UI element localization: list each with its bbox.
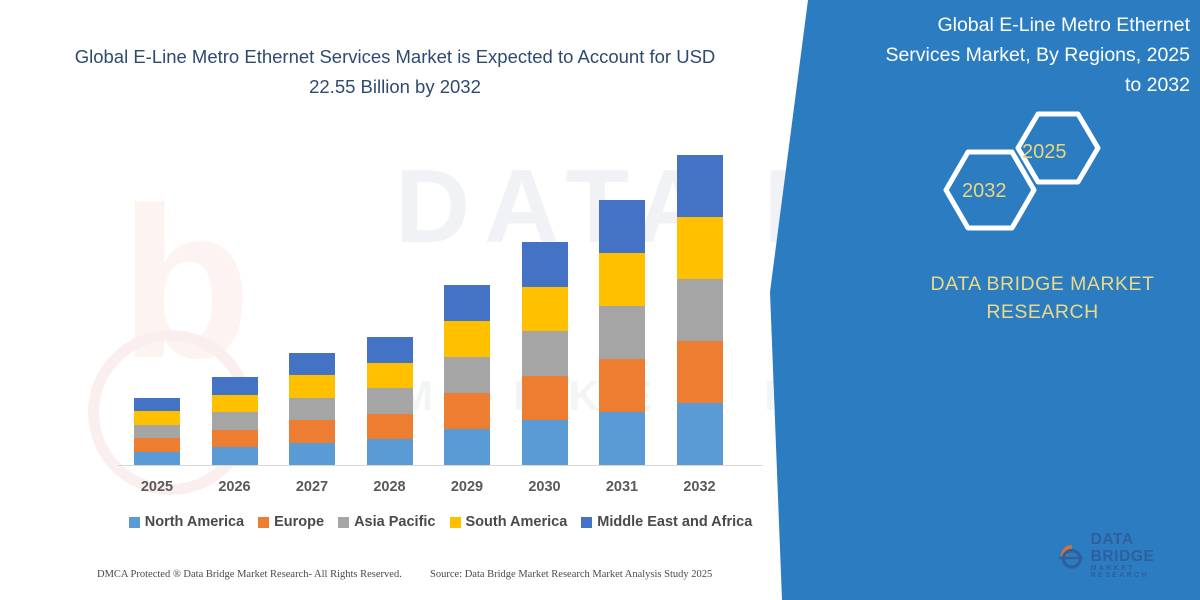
chart-legend: North AmericaEuropeAsia PacificSouth Ame… [118,514,763,530]
bar-segment [367,337,413,363]
bar-segment [599,253,645,306]
legend-item[interactable]: North America [129,514,244,530]
x-axis-label-2027: 2027 [277,479,347,495]
bar-segment [522,331,568,376]
legend-item[interactable]: South America [450,514,568,530]
legend-swatch-icon [129,517,140,528]
bar-2026 [212,377,258,465]
corner-logo-main: DATA BRIDGE [1091,532,1193,565]
bar-segment [134,398,180,411]
legend-label: North America [145,514,244,530]
bar-segment [599,359,645,412]
footer-source: Source: Data Bridge Market Research Mark… [430,569,712,580]
bar-segment [212,447,258,465]
bar-segment [522,287,568,332]
bar-segment [444,321,490,357]
legend-label: Europe [274,514,324,530]
bar-segment [522,420,568,465]
legend-label: South America [466,514,568,530]
legend-item[interactable]: Asia Pacific [338,514,435,530]
bar-2032 [677,155,723,465]
legend-swatch-icon [450,517,461,528]
bar-2031 [599,200,645,465]
bar-segment [134,411,180,424]
bar-2028 [367,337,413,465]
legend-item[interactable]: Middle East and Africa [581,514,752,530]
legend-item[interactable]: Europe [258,514,324,530]
x-axis-label-2025: 2025 [122,479,192,495]
bar-2025 [134,398,180,465]
corner-logo-icon [1058,541,1086,571]
bar-segment [212,395,258,413]
bar-segment [444,285,490,321]
bar-segment [444,429,490,465]
x-axis-label-2026: 2026 [200,479,270,495]
bar-2030 [522,242,568,465]
bar-segment [289,443,335,465]
bar-segment [444,393,490,429]
brand-name: DATA BRIDGE MARKET RESEARCH [900,270,1185,326]
hexagon-shapes [920,110,1120,240]
bar-segment [677,341,723,403]
chart: 20252026202720282029203020312032 [0,0,790,600]
corner-logo: DATA BRIDGE MARKET RESEARCH [1058,533,1193,579]
bar-segment [289,398,335,420]
legend-swatch-icon [338,517,349,528]
infographic-canvas: b DATA BRIDGE MARKET RESEARCH Global E-L… [0,0,1200,600]
bar-segment [367,439,413,465]
bar-segment [212,412,258,430]
bar-segment [599,306,645,359]
corner-logo-sub: MARKET RESEARCH [1091,565,1193,580]
x-axis-label-2032: 2032 [665,479,735,495]
bar-segment [367,414,413,440]
x-axis-label-2031: 2031 [587,479,657,495]
bar-segment [522,242,568,287]
hexagon-2025-label: 2025 [1022,141,1067,164]
legend-label: Middle East and Africa [597,514,752,530]
bar-segment [444,357,490,393]
bar-2027 [289,353,335,465]
bar-segment [212,377,258,395]
bar-segment [134,425,180,438]
corner-logo-text: DATA BRIDGE MARKET RESEARCH [1091,532,1193,579]
bar-segment [367,388,413,414]
bar-segment [677,217,723,279]
panel-title: Global E-Line Metro Ethernet Services Ma… [870,10,1190,100]
footer-copyright: DMCA Protected ® Data Bridge Market Rese… [97,569,402,580]
x-axis-label-2029: 2029 [432,479,502,495]
chart-baseline [118,465,763,466]
bar-segment [599,200,645,253]
bar-segment [289,353,335,375]
bar-segment [367,363,413,389]
bar-segment [134,452,180,465]
bar-segment [522,376,568,421]
legend-label: Asia Pacific [354,514,435,530]
x-axis-label-2028: 2028 [355,479,425,495]
bar-segment [599,412,645,465]
legend-swatch-icon [581,517,592,528]
bar-2029 [444,285,490,465]
bar-segment [289,375,335,397]
bar-segment [212,430,258,448]
x-axis-label-2030: 2030 [510,479,580,495]
bar-segment [289,420,335,442]
bar-segment [677,403,723,465]
legend-swatch-icon [258,517,269,528]
bar-segment [677,279,723,341]
hexagon-2032-label: 2032 [962,180,1007,203]
bar-segment [134,438,180,451]
bar-segment [677,155,723,217]
hexagon-group [920,110,1120,240]
